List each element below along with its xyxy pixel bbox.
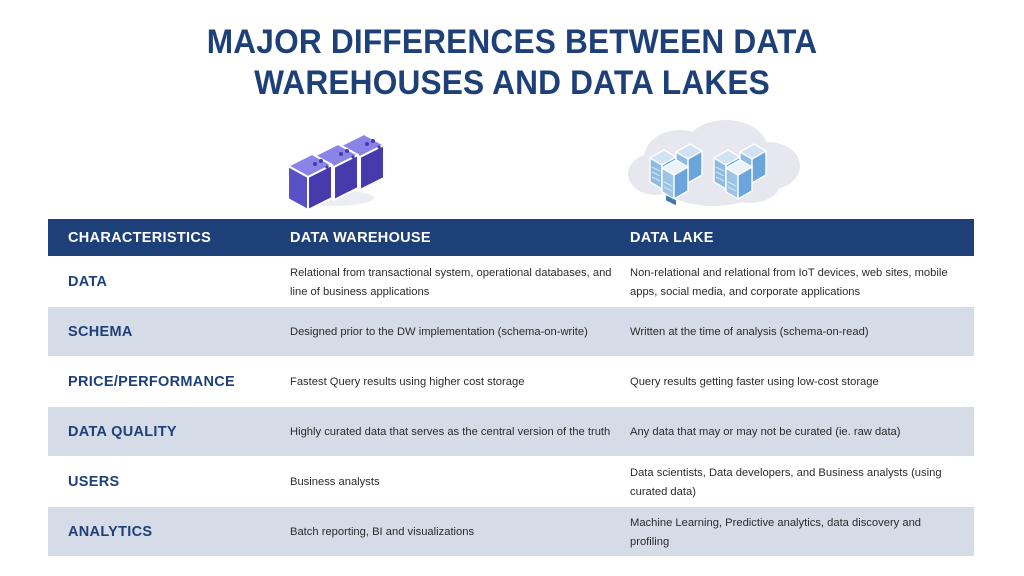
row-label-cell: SCHEMA bbox=[48, 323, 290, 341]
comparison-table: CHARACTERISTICS DATA WAREHOUSE DATA LAKE… bbox=[48, 219, 974, 556]
header-label-data-warehouse: DATA WAREHOUSE bbox=[290, 230, 431, 246]
row-label: ANALYTICS bbox=[68, 524, 152, 540]
table-row: DATA QUALITY Highly curated data that se… bbox=[48, 407, 974, 456]
illustration-row bbox=[0, 116, 1024, 216]
header-cell-characteristics: CHARACTERISTICS bbox=[48, 229, 290, 247]
page-title-line-1: MAJOR DIFFERENCES BETWEEN DATA bbox=[36, 22, 988, 63]
row-data-warehouse-text: Business analysts bbox=[290, 476, 380, 488]
row-data-warehouse-cell: Relational from transactional system, op… bbox=[290, 263, 630, 300]
row-data-warehouse-text: Relational from transactional system, op… bbox=[290, 267, 612, 298]
row-data-lake-cell: Machine Learning, Predictive analytics, … bbox=[630, 513, 974, 550]
row-data-lake-text: Non-relational and relational from IoT d… bbox=[630, 267, 948, 298]
row-data-warehouse-cell: Business analysts bbox=[290, 472, 630, 491]
row-label-cell: PRICE/PERFORMANCE bbox=[48, 373, 290, 391]
row-data-lake-cell: Written at the time of analysis (schema-… bbox=[630, 322, 974, 341]
table-row: DATA Relational from transactional syste… bbox=[48, 257, 974, 306]
row-data-warehouse-text: Highly curated data that serves as the c… bbox=[290, 426, 610, 438]
server-racks-icon bbox=[272, 116, 392, 216]
row-data-lake-text: Written at the time of analysis (schema-… bbox=[630, 326, 869, 338]
row-label: SCHEMA bbox=[68, 324, 133, 340]
row-label: DATA bbox=[68, 274, 107, 290]
row-data-warehouse-text: Designed prior to the DW implementation … bbox=[290, 326, 588, 338]
row-data-warehouse-cell: Fastest Query results using higher cost … bbox=[290, 372, 630, 391]
row-data-warehouse-cell: Highly curated data that serves as the c… bbox=[290, 422, 630, 441]
cloud-servers-icon bbox=[618, 110, 808, 220]
row-data-lake-text: Machine Learning, Predictive analytics, … bbox=[630, 517, 921, 548]
row-data-lake-cell: Any data that may or may not be curated … bbox=[630, 422, 974, 441]
row-data-lake-text: Any data that may or may not be curated … bbox=[630, 426, 901, 438]
table-row: PRICE/PERFORMANCE Fastest Query results … bbox=[48, 357, 974, 406]
row-data-lake-text: Data scientists, Data developers, and Bu… bbox=[630, 467, 942, 498]
row-data-warehouse-text: Fastest Query results using higher cost … bbox=[290, 376, 524, 388]
row-data-warehouse-text: Batch reporting, BI and visualizations bbox=[290, 526, 474, 538]
header-cell-data-warehouse: DATA WAREHOUSE bbox=[290, 229, 630, 247]
row-label: PRICE/PERFORMANCE bbox=[68, 374, 235, 390]
table-row: ANALYTICS Batch reporting, BI and visual… bbox=[48, 507, 974, 556]
row-data-lake-cell: Non-relational and relational from IoT d… bbox=[630, 263, 974, 300]
row-label-cell: USERS bbox=[48, 473, 290, 491]
page-title-line-2: WAREHOUSES AND DATA LAKES bbox=[36, 63, 988, 104]
row-data-lake-cell: Query results getting faster using low-c… bbox=[630, 372, 974, 391]
page-title: MAJOR DIFFERENCES BETWEEN DATA WAREHOUSE… bbox=[0, 0, 1024, 104]
row-data-warehouse-cell: Batch reporting, BI and visualizations bbox=[290, 522, 630, 541]
table-row: USERS Business analysts Data scientists,… bbox=[48, 457, 974, 506]
header-label-characteristics: CHARACTERISTICS bbox=[68, 230, 211, 246]
table-header-row: CHARACTERISTICS DATA WAREHOUSE DATA LAKE bbox=[48, 219, 974, 256]
row-label-cell: ANALYTICS bbox=[48, 523, 290, 541]
row-label-cell: DATA QUALITY bbox=[48, 423, 290, 441]
row-label: USERS bbox=[68, 474, 119, 490]
row-data-lake-text: Query results getting faster using low-c… bbox=[630, 376, 879, 388]
row-data-lake-cell: Data scientists, Data developers, and Bu… bbox=[630, 463, 974, 500]
row-data-warehouse-cell: Designed prior to the DW implementation … bbox=[290, 322, 630, 341]
header-label-data-lake: DATA LAKE bbox=[630, 230, 714, 246]
header-cell-data-lake: DATA LAKE bbox=[630, 229, 974, 247]
table-row: SCHEMA Designed prior to the DW implemen… bbox=[48, 307, 974, 356]
row-label: DATA QUALITY bbox=[68, 424, 177, 440]
row-label-cell: DATA bbox=[48, 273, 290, 291]
